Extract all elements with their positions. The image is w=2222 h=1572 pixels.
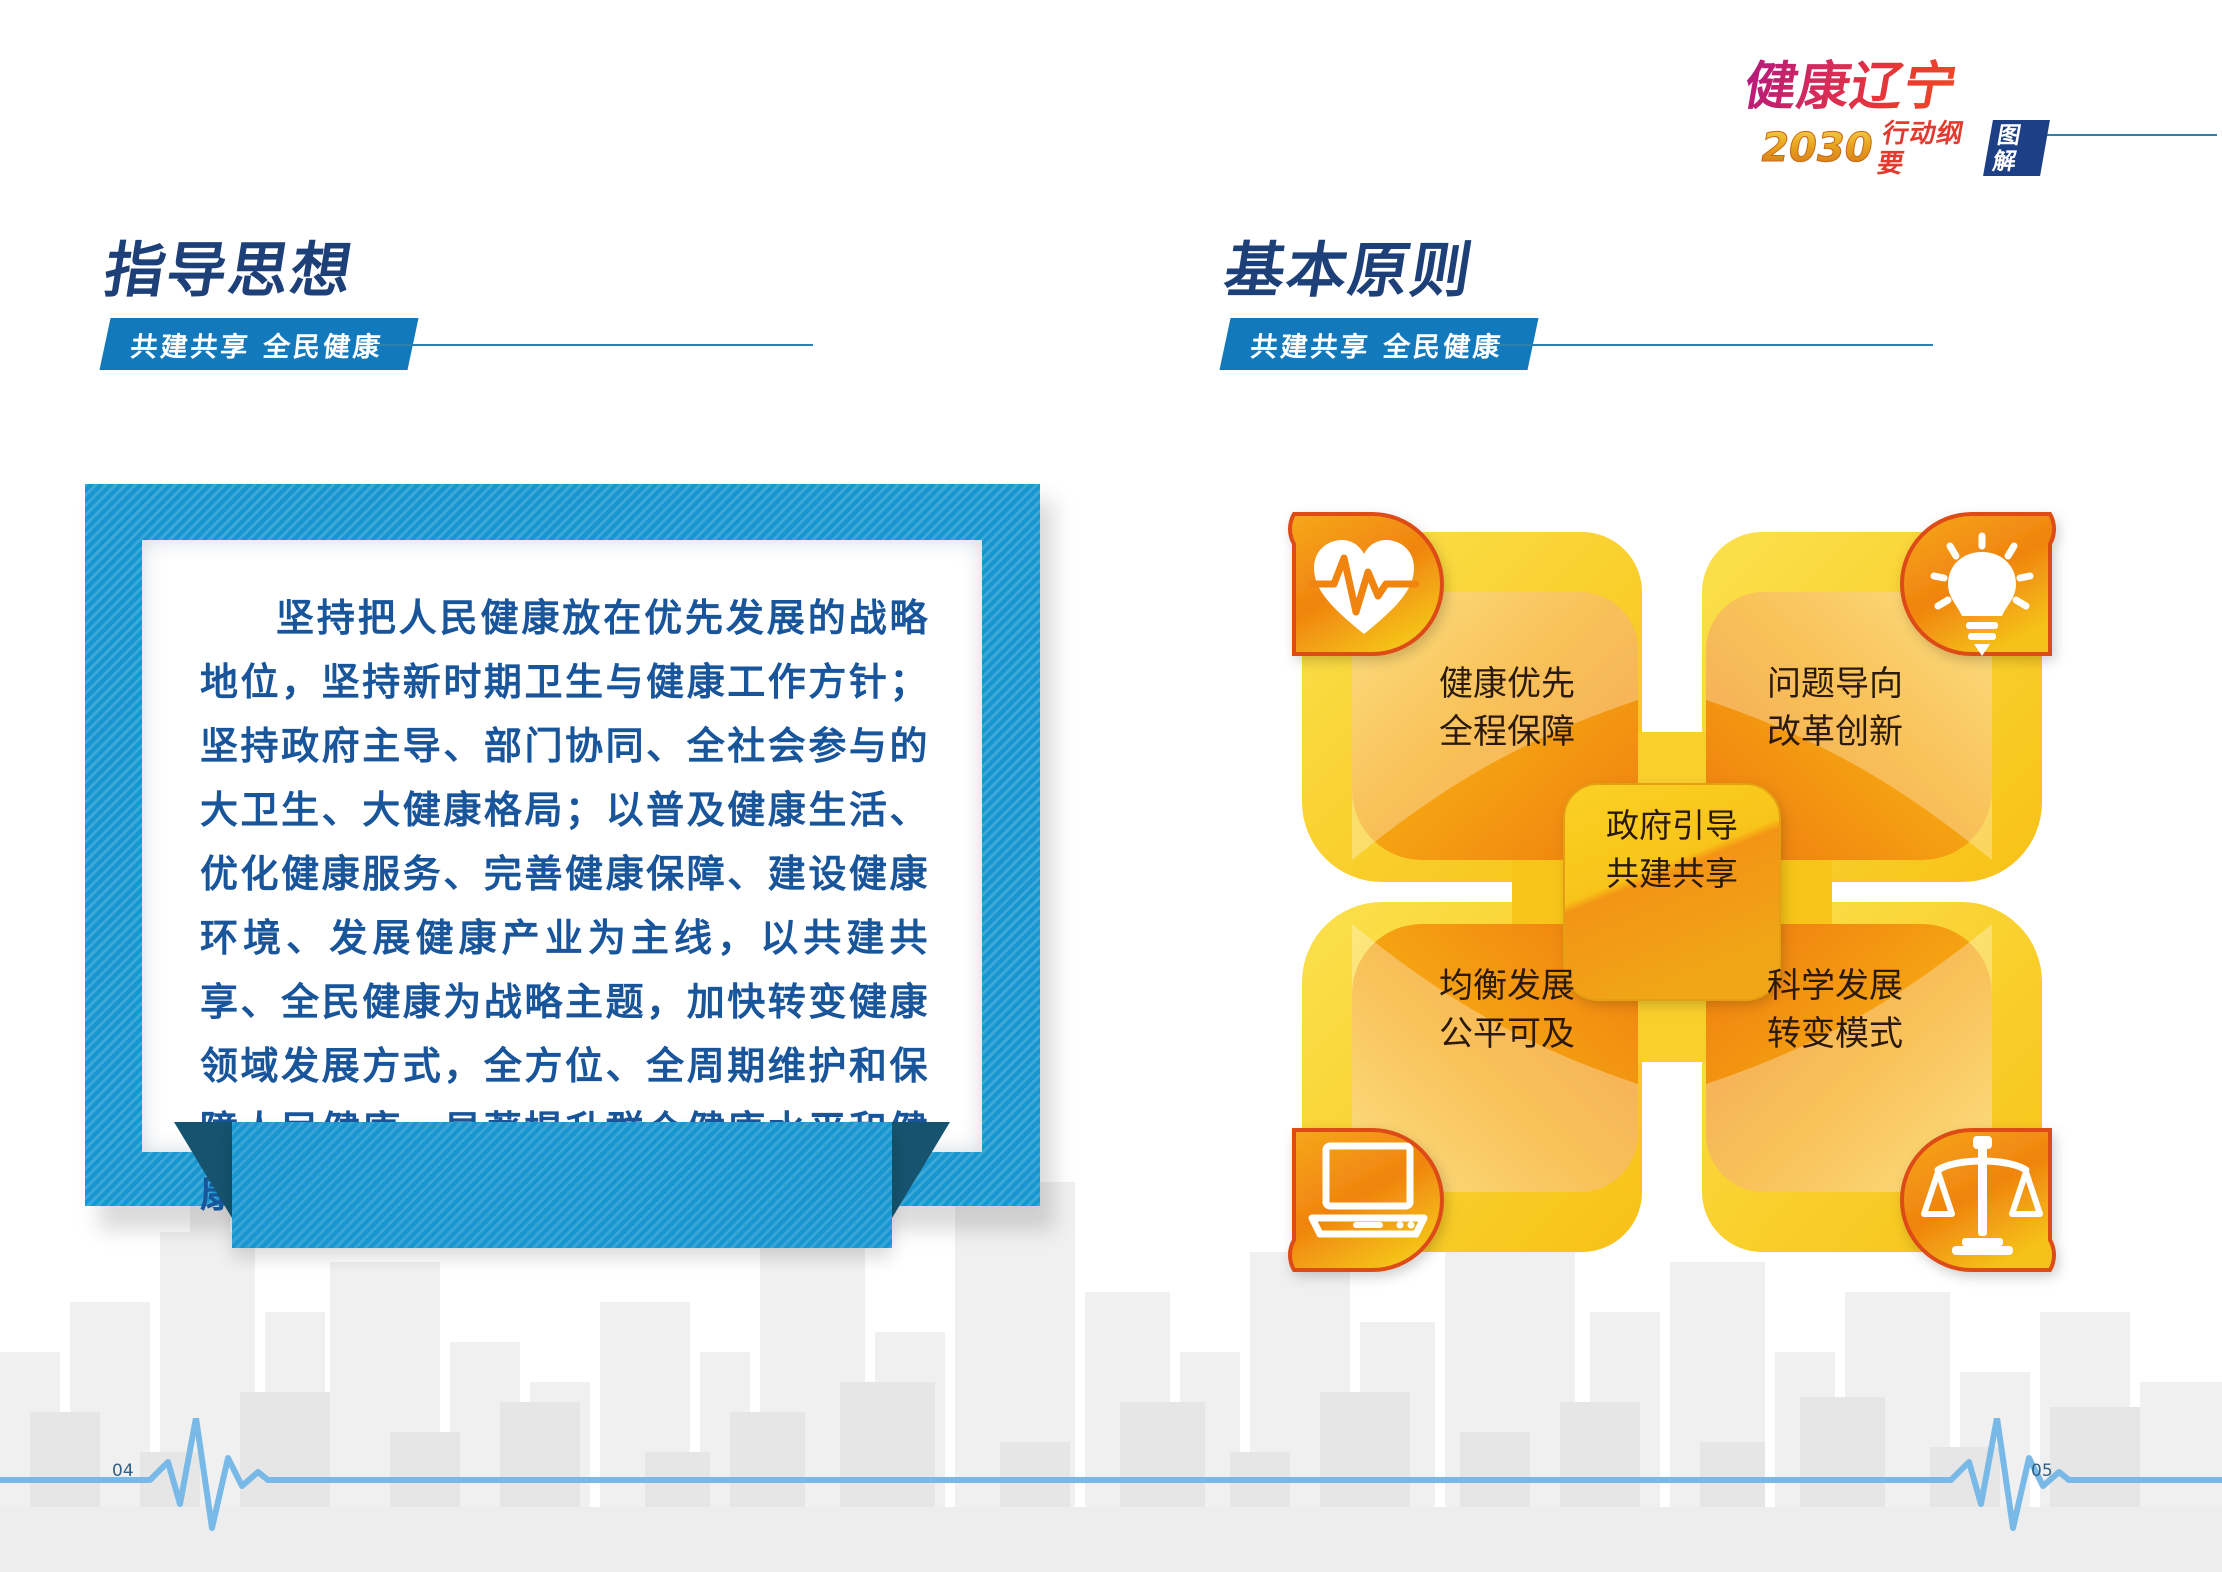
petal-label-top-left: 健康优先 全程保障 (1402, 660, 1612, 756)
logo-badge: 图解 (1983, 120, 2049, 176)
ribbon-fold-right (892, 1122, 950, 1218)
petal-br-line2: 转变模式 (1730, 1010, 1940, 1058)
ribbon-fold-left (174, 1122, 232, 1218)
diagram-center-label: 政府引导 共建共享 (1572, 802, 1772, 898)
petal-bl-line2: 公平可及 (1402, 1010, 1612, 1058)
petal-tl-line1: 健康优先 (1402, 660, 1612, 708)
right-section-header: 基本原则 共建共享 全民健康 (1225, 238, 1925, 370)
page-number-left: 04 (112, 1461, 134, 1481)
logo-year: 2030 (1757, 127, 1876, 169)
left-slogan-text: 共建共享 全民健康 (129, 325, 386, 364)
logo-wordmark: 健康辽宁 (1740, 58, 2050, 116)
center-line1: 政府引导 (1572, 802, 1772, 850)
petal-tr-line2: 改革创新 (1730, 708, 1940, 756)
petal-tr-line1: 问题导向 (1730, 660, 1940, 708)
right-slogan-banner: 共建共享 全民健康 (1219, 318, 1538, 370)
petal-br-line1: 科学发展 (1730, 962, 1940, 1010)
petal-label-bottom-right: 科学发展 转变模式 (1730, 962, 1940, 1058)
logo-subline: 2030 行动纲要 图解 (1756, 118, 2051, 178)
left-header-rule (373, 344, 813, 346)
basic-principles-diagram: 健康优先 全程保障 问题导向 改革创新 均衡发展 公平可及 科学发展 转变模式 … (1272, 492, 2072, 1292)
petal-label-bottom-left: 均衡发展 公平可及 (1402, 962, 1612, 1058)
card-blue-frame: 坚持把人民健康放在优先发展的战略地位，坚持新时期卫生与健康工作方针；坚持政府主导… (85, 484, 1040, 1206)
page-number-right: 05 (2031, 1461, 2053, 1481)
ribbon-body (232, 1122, 892, 1248)
right-header-rule (1493, 344, 1933, 346)
left-section-header: 指导思想 共建共享 全民健康 (105, 238, 805, 370)
petal-tl-line2: 全程保障 (1402, 708, 1612, 756)
center-line2: 共建共享 (1572, 850, 1772, 898)
guiding-thought-card: 坚持把人民健康放在优先发展的战略地位，坚持新时期卫生与健康工作方针；坚持政府主导… (85, 484, 1040, 1224)
left-slogan-banner: 共建共享 全民健康 (99, 318, 418, 370)
left-banner-row: 共建共享 全民健康 (105, 318, 805, 370)
right-slogan-text: 共建共享 全民健康 (1249, 325, 1506, 364)
right-section-title: 基本原则 (1220, 238, 1930, 304)
petal-label-top-right: 问题导向 改革创新 (1730, 660, 1940, 756)
brochure-spread: 健康辽宁 2030 行动纲要 图解 指导思想 共建共享 全民健康 坚持把人民健康… (0, 0, 2222, 1572)
card-white-panel: 坚持把人民健康放在优先发展的战略地位，坚持新时期卫生与健康工作方针；坚持政府主导… (142, 540, 982, 1152)
footer-pulse-left (0, 1418, 1111, 1538)
petal-bl-line1: 均衡发展 (1402, 962, 1612, 1010)
brand-logo: 健康辽宁 2030 行动纲要 图解 (1745, 58, 2045, 168)
card-bottom-ribbon (232, 1122, 892, 1254)
right-banner-row: 共建共享 全民健康 (1225, 318, 1925, 370)
left-section-title: 指导思想 (100, 238, 810, 304)
footer-pulse-right (1111, 1418, 2222, 1538)
logo-program-name: 行动纲要 (1875, 118, 1986, 178)
